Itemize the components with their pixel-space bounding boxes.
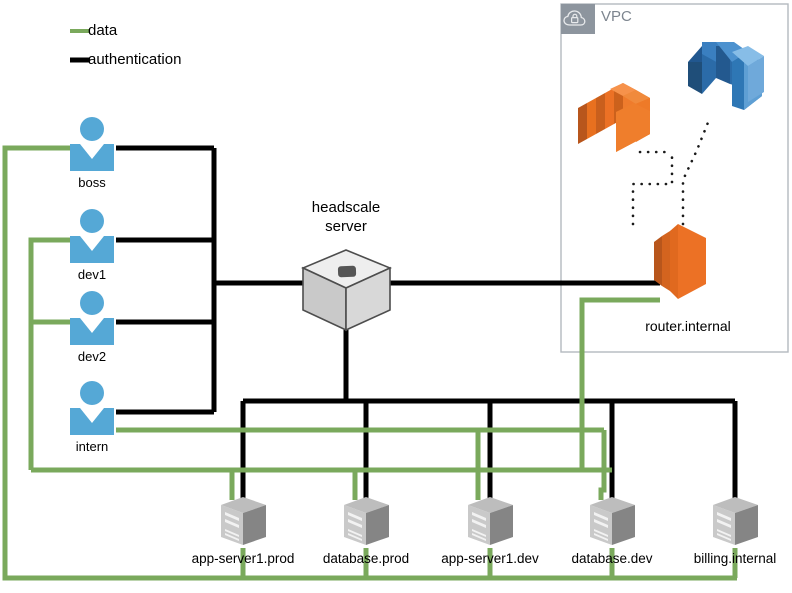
user-label-dev2: dev2 [52, 349, 132, 364]
server-label-app-server1-dev: app-server1.dev [430, 551, 550, 566]
vpc-badge-label: VPC [601, 8, 632, 25]
headscale-label-line2: server [286, 217, 406, 236]
legend-label-data: data [88, 22, 117, 39]
user-icon-dev2[interactable] [70, 291, 114, 345]
network-diagram-canvas: data authentication boss dev1 dev2 inter… [0, 0, 792, 593]
user-label-dev1: dev1 [52, 267, 132, 282]
server-label-database-prod: database.prod [305, 551, 427, 566]
headscale-server-icon[interactable] [303, 250, 390, 330]
router-label: router.internal [608, 318, 768, 334]
server-icon-app-server1-prod[interactable] [221, 497, 266, 545]
server-icon-app-server1-dev[interactable] [468, 497, 513, 545]
server-label-app-server1-prod: app-server1.prod [180, 551, 306, 566]
user-icon-boss[interactable] [70, 117, 114, 171]
server-icon-database-dev[interactable] [590, 497, 635, 545]
server-label-billing-internal: billing.internal [675, 551, 792, 566]
server-label-database-dev: database.dev [554, 551, 670, 566]
legend-label-authentication: authentication [88, 51, 181, 68]
user-label-boss: boss [52, 175, 132, 190]
headscale-label-line1: headscale [286, 198, 406, 217]
diagram-edges [0, 0, 792, 593]
headscale-label: headscale server [286, 198, 406, 236]
user-icon-intern[interactable] [70, 381, 114, 435]
user-icon-dev1[interactable] [70, 209, 114, 263]
server-icon-billing-internal[interactable] [713, 497, 758, 545]
server-icon-database-prod[interactable] [344, 497, 389, 545]
user-label-intern: intern [52, 439, 132, 454]
